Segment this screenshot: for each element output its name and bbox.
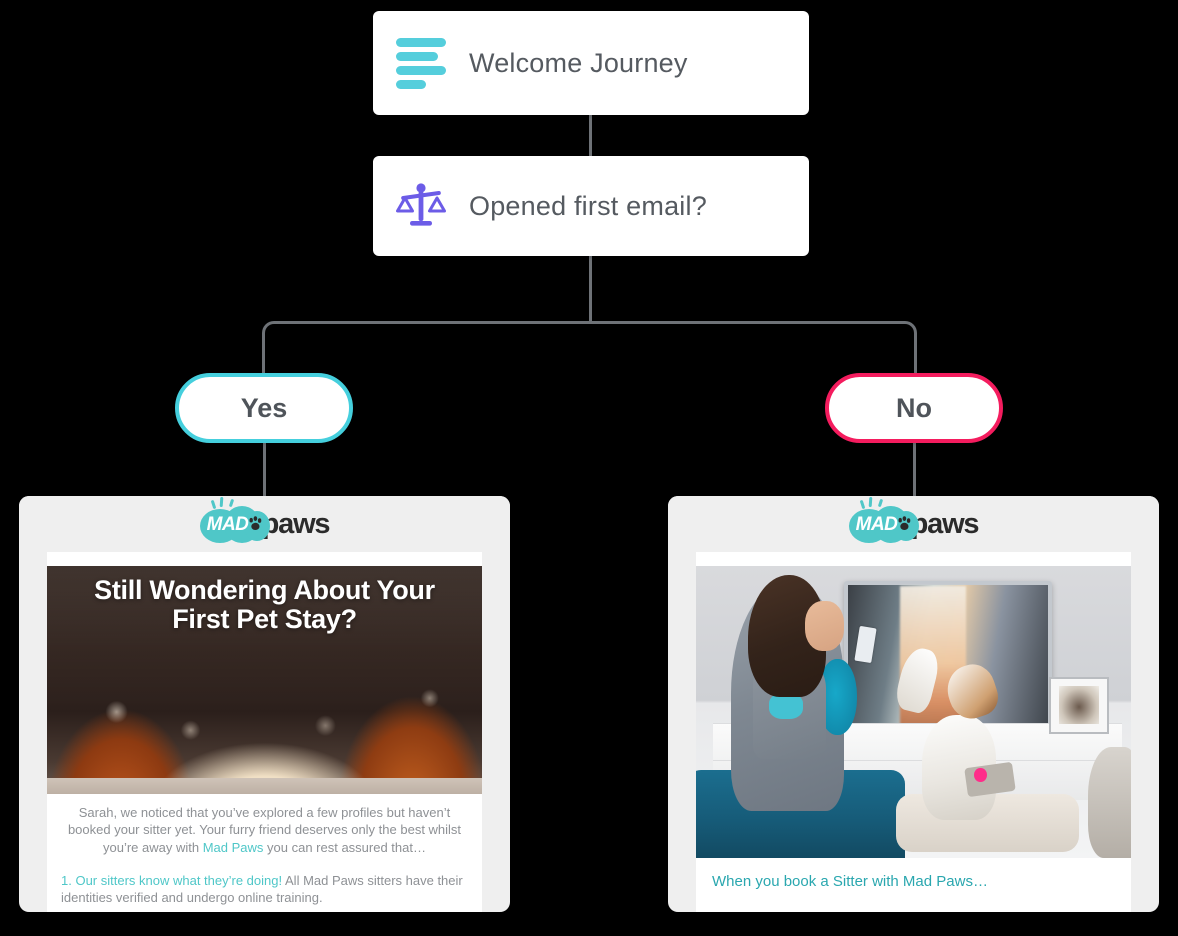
email-yes-hero-title-line1: Still Wondering About Your xyxy=(59,576,470,605)
email-yes-list-item-highlight: 1. Our sitters know what they’re doing! xyxy=(61,873,282,888)
paw-print-icon xyxy=(898,516,911,531)
second-dog-shape xyxy=(1088,747,1132,858)
branch-pill-yes[interactable]: Yes xyxy=(175,373,353,443)
email-no-logo-bar: MAD paws xyxy=(668,496,1159,552)
mad-paws-logo-mad: MAD xyxy=(856,514,898,536)
mad-paws-logo-icon: MAD paws xyxy=(849,504,979,544)
email-yes-paragraph-link[interactable]: Mad Paws xyxy=(203,840,264,855)
email-yes-logo-bar: MAD paws xyxy=(19,496,510,552)
email-yes-hero-title-line2: First Pet Stay? xyxy=(59,605,470,634)
balance-scales-icon xyxy=(373,183,469,229)
picture-frame-shape xyxy=(1049,677,1110,734)
mad-paws-logo-paws: paws xyxy=(911,508,979,541)
email-yes-paragraph: Sarah, we noticed that you’ve explored a… xyxy=(47,794,482,856)
email-card-no[interactable]: MAD paws xyxy=(668,496,1159,912)
journey-node-label: Welcome Journey xyxy=(469,48,688,79)
connector-decision-to-split xyxy=(589,255,592,323)
connector-split-bracket xyxy=(262,321,917,377)
email-yes-paragraph-after: you can rest assured that… xyxy=(263,840,426,855)
email-no-cta-text[interactable]: When you book a Sitter with Mad Paws… xyxy=(696,858,1131,892)
connector-no-to-email xyxy=(913,440,916,496)
mad-paws-logo-icon: MAD paws xyxy=(200,504,330,544)
decision-node-label: Opened first email? xyxy=(469,191,707,222)
woman-face-shape xyxy=(805,601,844,651)
journey-node[interactable]: Welcome Journey xyxy=(373,11,809,115)
email-yes-hero-title: Still Wondering About Your First Pet Sta… xyxy=(47,576,482,634)
email-card-yes[interactable]: MAD paws Still Wonderi xyxy=(19,496,510,912)
branch-pill-no[interactable]: No xyxy=(825,373,1003,443)
mad-paws-logo-mad: MAD xyxy=(207,514,249,536)
paw-print-icon xyxy=(249,516,262,531)
email-yes-list-item: 1. Our sitters know what they’re doing! … xyxy=(47,856,482,907)
connector-journey-to-decision xyxy=(589,114,592,156)
mad-paws-logo-paws: paws xyxy=(262,508,330,541)
email-no-hero-image xyxy=(696,566,1131,858)
decision-node[interactable]: Opened first email? xyxy=(373,156,809,256)
branch-pill-no-label: No xyxy=(896,393,932,424)
journey-bars-icon xyxy=(373,38,469,89)
dog-bandana-shape xyxy=(964,761,1015,797)
flow-canvas: Welcome Journey Opened first email? Yes … xyxy=(0,0,1178,936)
email-no-body: When you book a Sitter with Mad Paws… xyxy=(696,552,1131,912)
email-yes-body: Still Wondering About Your First Pet Sta… xyxy=(47,552,482,912)
branch-pill-yes-label: Yes xyxy=(241,393,288,424)
connector-yes-to-email xyxy=(263,440,266,496)
email-yes-hero-image: Still Wondering About Your First Pet Sta… xyxy=(47,566,482,794)
